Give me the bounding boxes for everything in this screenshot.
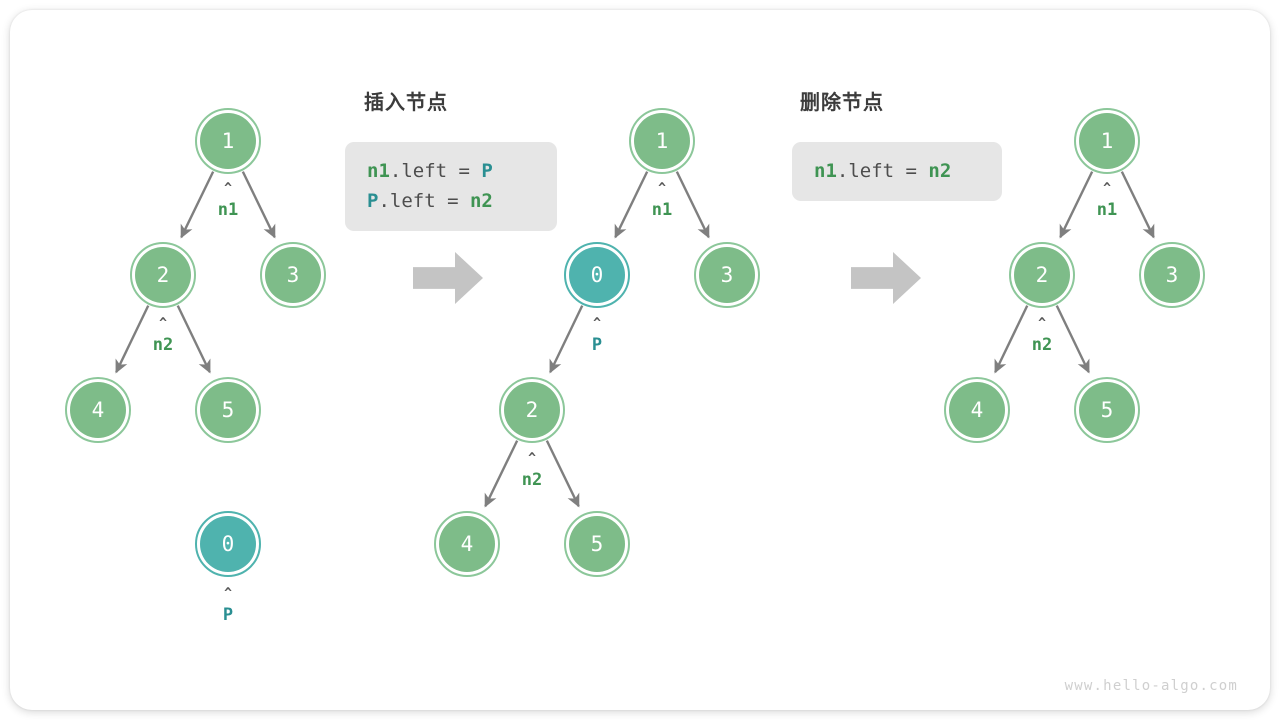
node-value: 5 xyxy=(1101,400,1114,421)
node-value: 5 xyxy=(222,400,235,421)
tree-node[interactable]: 3 xyxy=(694,242,760,308)
section-title: 插入节点 xyxy=(364,86,448,115)
tree-node[interactable]: 3 xyxy=(260,242,326,308)
node-pointer-label: ^n2 xyxy=(1007,318,1077,354)
caret-icon: ^ xyxy=(193,588,263,600)
code-token: .left = xyxy=(837,160,929,182)
node-value: 4 xyxy=(92,400,105,421)
node-pointer-label: ^n1 xyxy=(627,183,697,219)
pointer-name: P xyxy=(562,337,632,354)
node-pointer-label: ^n1 xyxy=(193,183,263,219)
code-token: n2 xyxy=(470,190,493,212)
tree-node[interactable]: 3 xyxy=(1139,242,1205,308)
pointer-name: P xyxy=(193,607,263,624)
node-pointer-label: ^n1 xyxy=(1072,183,1142,219)
tree-node[interactable]: 4 xyxy=(944,377,1010,443)
node-value: 3 xyxy=(721,265,734,286)
node-value: 3 xyxy=(287,265,300,286)
code-token: .left = xyxy=(378,190,470,212)
tree-node[interactable]: 4 xyxy=(65,377,131,443)
caret-icon: ^ xyxy=(1072,183,1142,195)
pointer-name: n2 xyxy=(128,337,198,354)
node-pointer-label: ^P xyxy=(193,588,263,624)
code-line: P.left = n2 xyxy=(367,186,535,216)
tree-node[interactable]: 5 xyxy=(195,377,261,443)
caret-icon: ^ xyxy=(128,318,198,330)
code-line: n1.left = n2 xyxy=(814,156,980,186)
code-token: n1 xyxy=(367,160,390,182)
transition-arrow-icon xyxy=(413,252,483,304)
caret-icon: ^ xyxy=(562,318,632,330)
tree-node[interactable]: 5 xyxy=(564,511,630,577)
node-value: 2 xyxy=(1036,265,1049,286)
tree-edges xyxy=(116,172,1153,507)
section-title: 删除节点 xyxy=(800,86,884,115)
caret-icon: ^ xyxy=(1007,318,1077,330)
node-pointer-label: ^n2 xyxy=(497,453,567,489)
tree-node[interactable]: 1 xyxy=(629,108,695,174)
pointer-name: n1 xyxy=(1072,202,1142,219)
node-value: 4 xyxy=(461,534,474,555)
pointer-name: n1 xyxy=(193,202,263,219)
code-token: P xyxy=(481,160,492,182)
node-pointer-label: ^n2 xyxy=(128,318,198,354)
node-pointer-label: ^P xyxy=(562,318,632,354)
node-value: 2 xyxy=(526,400,539,421)
node-value: 1 xyxy=(656,131,669,152)
tree-node[interactable]: 5 xyxy=(1074,377,1140,443)
edges-layer xyxy=(0,0,1280,720)
tree-node[interactable]: 1 xyxy=(1074,108,1140,174)
code-token: P xyxy=(367,190,378,212)
tree-node[interactable]: 4 xyxy=(434,511,500,577)
tree-node[interactable]: 1 xyxy=(195,108,261,174)
node-value: 1 xyxy=(1101,131,1114,152)
code-snippet-box: n1.left = PP.left = n2 xyxy=(345,142,557,231)
code-snippet-box: n1.left = n2 xyxy=(792,142,1002,201)
code-token: .left = xyxy=(390,160,482,182)
watermark: www.hello-algo.com xyxy=(1065,678,1238,694)
pointer-name: n2 xyxy=(1007,337,1077,354)
diagram-canvas: 123450^n1^n2^P103245^n1^P^n212345^n1^n2插… xyxy=(0,0,1280,720)
caret-icon: ^ xyxy=(193,183,263,195)
node-value: 1 xyxy=(222,131,235,152)
node-value: 0 xyxy=(591,265,604,286)
tree-node[interactable]: 0 xyxy=(195,511,261,577)
node-value: 0 xyxy=(222,534,235,555)
node-value: 5 xyxy=(591,534,604,555)
tree-node[interactable]: 2 xyxy=(499,377,565,443)
tree-node[interactable]: 0 xyxy=(564,242,630,308)
caret-icon: ^ xyxy=(497,453,567,465)
code-token: n2 xyxy=(928,160,951,182)
transition-arrows xyxy=(413,252,921,304)
node-value: 4 xyxy=(971,400,984,421)
pointer-name: n2 xyxy=(497,472,567,489)
tree-node[interactable]: 2 xyxy=(1009,242,1075,308)
transition-arrow-icon xyxy=(851,252,921,304)
node-value: 2 xyxy=(157,265,170,286)
tree-node[interactable]: 2 xyxy=(130,242,196,308)
pointer-name: n1 xyxy=(627,202,697,219)
code-line: n1.left = P xyxy=(367,156,535,186)
node-value: 3 xyxy=(1166,265,1179,286)
caret-icon: ^ xyxy=(627,183,697,195)
code-token: n1 xyxy=(814,160,837,182)
